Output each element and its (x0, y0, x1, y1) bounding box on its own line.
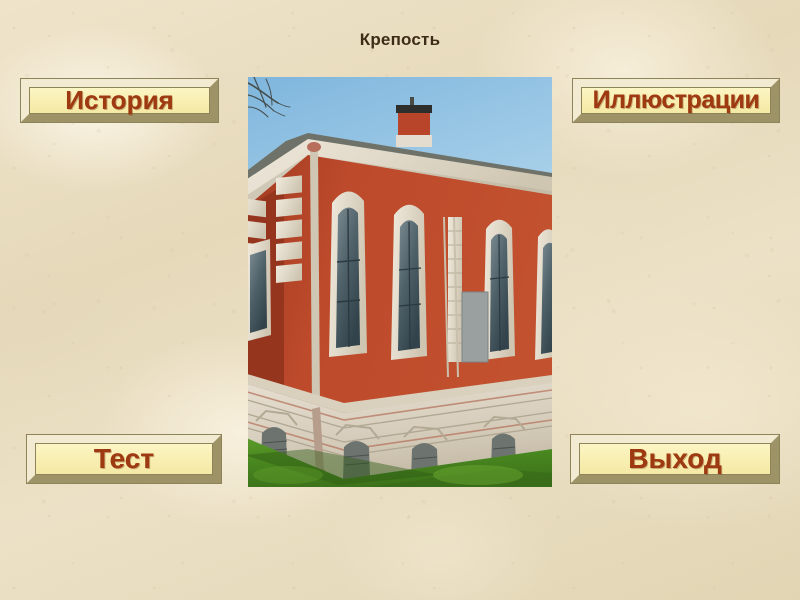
history-button[interactable]: История (20, 78, 219, 123)
page-title: Крепость (0, 30, 800, 50)
illustrations-button-label: Иллюстрации (593, 86, 760, 115)
exit-button-label: Выход (628, 443, 722, 475)
test-button[interactable]: Тест (26, 434, 222, 484)
fortress-building-photo (248, 77, 552, 487)
illustrations-button[interactable]: Иллюстрации (572, 78, 780, 123)
exit-button[interactable]: Выход (570, 434, 780, 484)
test-button-label: Тест (94, 443, 154, 475)
presentation-slide: Крепость (0, 0, 800, 600)
fortress-building-illustration (248, 77, 552, 487)
history-button-label: История (65, 85, 173, 116)
